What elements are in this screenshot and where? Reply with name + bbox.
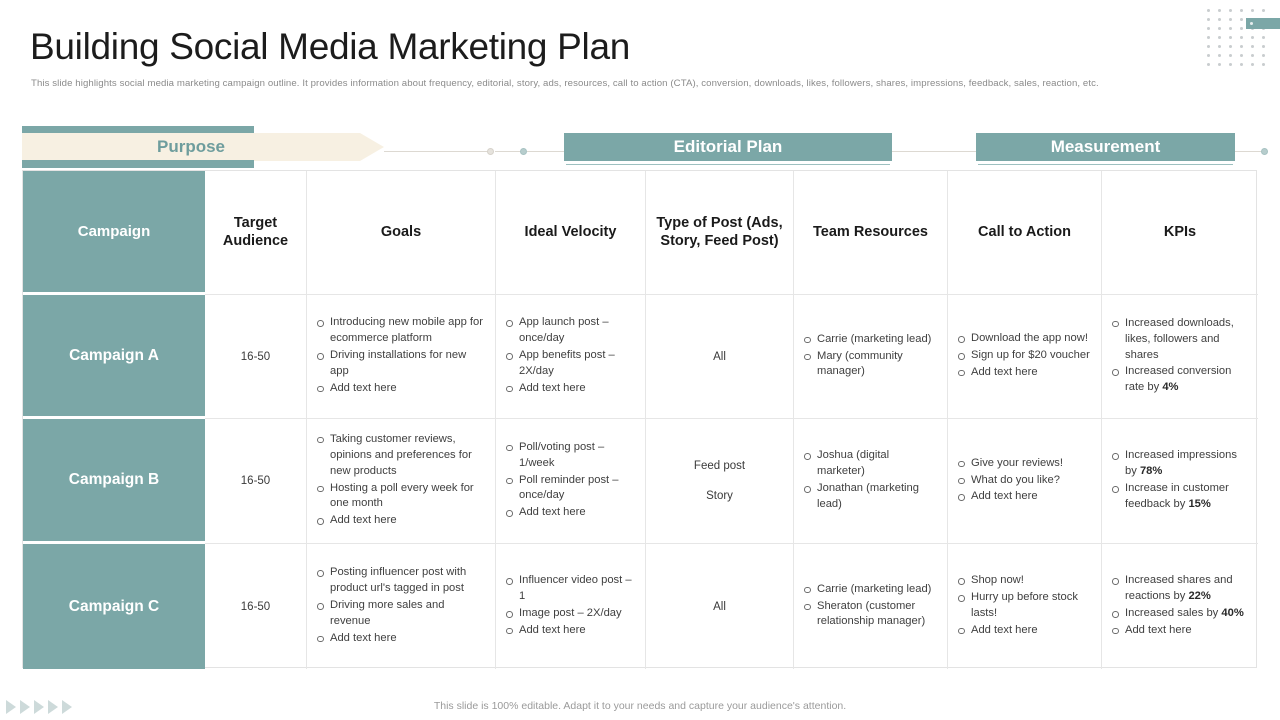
grid-dot-icon: [1240, 27, 1243, 30]
team-resources-list: Carrie (marketing lead)Sheraton (custome…: [802, 582, 939, 632]
cell-team-resources: Carrie (marketing lead)Sheraton (custome…: [794, 544, 948, 669]
column-header-type-of-post: Type of Post (Ads, Story, Feed Post): [646, 171, 794, 295]
kpis-list: Increased downloads, likes, followers an…: [1110, 316, 1250, 398]
purpose-cap-bottom: [22, 160, 254, 168]
phase-banner-measurement[interactable]: Measurement: [976, 133, 1235, 161]
grid-dot-icon: [1240, 36, 1243, 39]
connector-dot-2: [520, 148, 527, 155]
cell-kpis: Increased downloads, likes, followers an…: [1102, 295, 1258, 419]
list-item: Hosting a poll every week for one month: [315, 481, 487, 513]
list-item: Increased sales by 40%: [1110, 606, 1250, 622]
campaign-plan-table: Campaign Target Audience Goals Ideal Vel…: [22, 170, 1257, 668]
list-item: Add text here: [315, 513, 487, 529]
cell-target-audience: 16-50: [205, 419, 307, 544]
metric-value: 40%: [1221, 607, 1243, 619]
list-item: Shop now!: [956, 573, 1093, 589]
target-audience-line2: Audience: [223, 233, 288, 251]
connector-line-4: [892, 151, 976, 152]
grid-dot-icon: [1207, 27, 1210, 30]
list-item: Driving more sales and revenue: [315, 598, 487, 630]
grid-dot-icon: [1218, 18, 1221, 21]
column-header-ideal-velocity: Ideal Velocity: [496, 171, 646, 295]
purpose-cap-top: [22, 126, 254, 134]
type-of-post-value: Feed post: [694, 460, 745, 472]
grid-dot-icon: [1262, 63, 1265, 66]
column-header-target-audience: Target Audience: [205, 171, 307, 295]
list-item: Increased conversion rate by 4%: [1110, 364, 1250, 396]
column-header-kpis: KPIs: [1102, 171, 1258, 295]
list-item: Jonathan (marketing lead): [802, 481, 939, 513]
grid-dot-icon: [1262, 36, 1265, 39]
metric-value: 4%: [1162, 381, 1178, 393]
call-to-action-list: Shop now!Hurry up before stock lasts!Add…: [956, 573, 1093, 640]
column-header-team-resources: Team Resources: [794, 171, 948, 295]
grid-dot-icon: [1240, 18, 1243, 21]
table-row-campaign-label[interactable]: Campaign A: [23, 295, 205, 419]
grid-dot-icon: [1207, 18, 1210, 21]
list-item: Sheraton (customer relationship manager): [802, 599, 939, 631]
connector-dot-1: [487, 148, 494, 155]
grid-dot-icon: [1251, 63, 1254, 66]
type-of-post-line1: Type of Post (Ads,: [656, 215, 782, 233]
list-item: Add text here: [956, 365, 1093, 381]
cell-goals: Taking customer reviews, opinions and pr…: [307, 419, 496, 544]
type-of-post-line2: Story, Feed Post): [660, 233, 778, 251]
grid-dot-icon: [1207, 54, 1210, 57]
list-item: App benefits post – 2X/day: [504, 348, 637, 380]
list-item: App launch post – once/day: [504, 315, 637, 347]
connector-line-5: [1235, 151, 1263, 152]
cell-call-to-action: Shop now!Hurry up before stock lasts!Add…: [948, 544, 1102, 669]
grid-dot-icon: [1240, 54, 1243, 57]
cell-kpis: Increased impressions by 78%Increase in …: [1102, 419, 1258, 544]
metric-value: 22%: [1188, 590, 1210, 602]
column-header-campaign: Campaign: [23, 171, 205, 295]
grid-dot-icon: [1218, 36, 1221, 39]
page-title: Building Social Media Marketing Plan: [30, 26, 630, 68]
cell-ideal-velocity: App launch post – once/dayApp benefits p…: [496, 295, 646, 419]
grid-dot-icon: [1207, 9, 1210, 12]
phase-banner-purpose[interactable]: Purpose: [22, 126, 384, 168]
list-item: Add text here: [956, 623, 1093, 639]
grid-dot-icon: [1262, 9, 1265, 12]
call-to-action-list: Give your reviews!What do you like?Add t…: [956, 456, 1093, 507]
call-to-action-list: Download the app now!Sign up for $20 vou…: [956, 331, 1093, 382]
list-item: Sign up for $20 voucher: [956, 348, 1093, 364]
list-item: Driving installations for new app: [315, 348, 487, 380]
cell-ideal-velocity: Poll/voting post – 1/weekPoll reminder p…: [496, 419, 646, 544]
grid-dot-icon: [1240, 63, 1243, 66]
grid-dot-icon: [1229, 36, 1232, 39]
grid-dot-icon: [1229, 18, 1232, 21]
list-item: Poll reminder post – once/day: [504, 473, 637, 505]
grid-dot-icon: [1262, 45, 1265, 48]
teal-accent-bar-icon: [1246, 18, 1280, 29]
metric-value: 78%: [1140, 465, 1162, 477]
list-item: Posting influencer post with product url…: [315, 565, 487, 597]
column-header-goals: Goals: [307, 171, 496, 295]
cell-call-to-action: Give your reviews!What do you like?Add t…: [948, 419, 1102, 544]
list-item: Hurry up before stock lasts!: [956, 590, 1093, 622]
goals-list: Taking customer reviews, opinions and pr…: [315, 432, 487, 530]
grid-dot-icon: [1229, 63, 1232, 66]
cell-goals: Introducing new mobile app for ecommerce…: [307, 295, 496, 419]
type-of-post-value: Story: [706, 490, 733, 502]
list-item: Carrie (marketing lead): [802, 582, 939, 598]
goals-list: Posting influencer post with product url…: [315, 565, 487, 648]
cell-team-resources: Carrie (marketing lead)Mary (community m…: [794, 295, 948, 419]
kpis-list: Increased impressions by 78%Increase in …: [1110, 448, 1250, 514]
phase-banner-editorial-plan[interactable]: Editorial Plan: [564, 133, 892, 161]
slide-canvas: Building Social Media Marketing Plan Thi…: [0, 0, 1280, 720]
list-item: Download the app now!: [956, 331, 1093, 347]
team-resources-list: Joshua (digital marketer)Jonathan (marke…: [802, 448, 939, 514]
cell-team-resources: Joshua (digital marketer)Jonathan (marke…: [794, 419, 948, 544]
footer-note: This slide is 100% editable. Adapt it to…: [0, 700, 1280, 712]
cell-target-audience: 16-50: [205, 544, 307, 669]
grid-dot-icon: [1229, 9, 1232, 12]
ideal-velocity-list: Poll/voting post – 1/weekPoll reminder p…: [504, 440, 637, 523]
purpose-arrow-shape: Purpose: [22, 133, 384, 161]
grid-dot-icon: [1218, 54, 1221, 57]
target-audience-line1: Target: [234, 215, 277, 233]
connector-line-3: [527, 151, 564, 152]
list-item: Add text here: [504, 381, 637, 397]
cell-goals: Posting influencer post with product url…: [307, 544, 496, 669]
grid-dot-icon: [1207, 63, 1210, 66]
grid-dot-icon: [1218, 9, 1221, 12]
grid-dot-icon: [1229, 54, 1232, 57]
grid-dot-icon: [1262, 54, 1265, 57]
page-subtitle: This slide highlights social media marke…: [31, 78, 1099, 89]
grid-dot-icon: [1218, 45, 1221, 48]
grid-dot-icon: [1218, 63, 1221, 66]
goals-list: Introducing new mobile app for ecommerce…: [315, 315, 487, 398]
list-item: Poll/voting post – 1/week: [504, 440, 637, 472]
list-item: Add text here: [315, 381, 487, 397]
list-item: Add text here: [504, 505, 637, 521]
list-item: Add text here: [1110, 623, 1250, 639]
list-item: Influencer video post – 1: [504, 573, 637, 605]
list-item: Mary (community manager): [802, 349, 939, 381]
column-header-call-to-action: Call to Action: [948, 171, 1102, 295]
list-item: Carrie (marketing lead): [802, 332, 939, 348]
phase-label-purpose: Purpose: [22, 133, 360, 161]
list-item: Add text here: [504, 623, 637, 639]
grid-dot-icon: [1218, 27, 1221, 30]
cell-type-of-post: Feed postStory: [646, 419, 794, 544]
type-of-post-value: All: [713, 601, 726, 613]
type-of-post-value: All: [713, 351, 726, 363]
kpis-list: Increased shares and reactions by 22%Inc…: [1110, 573, 1250, 640]
grid-dot-icon: [1207, 36, 1210, 39]
ideal-velocity-list: Influencer video post – 1Image post – 2X…: [504, 573, 637, 640]
grid-dot-icon: [1240, 45, 1243, 48]
list-item: Increased shares and reactions by 22%: [1110, 573, 1250, 605]
list-item: Increased impressions by 78%: [1110, 448, 1250, 480]
list-item: Add text here: [956, 489, 1093, 505]
list-item: Increase in customer feedback by 15%: [1110, 481, 1250, 513]
list-item: Increased downloads, likes, followers an…: [1110, 316, 1250, 364]
grid-dot-icon: [1229, 45, 1232, 48]
list-item: Give your reviews!: [956, 456, 1093, 472]
connector-dot-3: [1261, 148, 1268, 155]
grid-dot-icon: [1229, 27, 1232, 30]
metric-value: 15%: [1188, 498, 1210, 510]
list-item: Add text here: [315, 631, 487, 647]
cell-type-of-post: All: [646, 295, 794, 419]
grid-dot-icon: [1251, 45, 1254, 48]
list-item: Joshua (digital marketer): [802, 448, 939, 480]
grid-dot-icon: [1251, 36, 1254, 39]
list-item: Image post – 2X/day: [504, 606, 637, 622]
list-item: Introducing new mobile app for ecommerce…: [315, 315, 487, 347]
ideal-velocity-list: App launch post – once/dayApp benefits p…: [504, 315, 637, 398]
cell-target-audience: 16-50: [205, 295, 307, 419]
connector-line-2: [495, 151, 522, 152]
team-resources-list: Carrie (marketing lead)Mary (community m…: [802, 332, 939, 382]
grid-dot-icon: [1207, 45, 1210, 48]
grid-dot-icon: [1240, 9, 1243, 12]
grid-dot-icon: [1251, 9, 1254, 12]
grid-dot-icon: [1251, 54, 1254, 57]
cell-kpis: Increased shares and reactions by 22%Inc…: [1102, 544, 1258, 669]
cell-type-of-post: All: [646, 544, 794, 669]
cell-ideal-velocity: Influencer video post – 1Image post – 2X…: [496, 544, 646, 669]
dot-grid-decoration: [1203, 6, 1269, 68]
connector-line-1: [384, 151, 488, 152]
cell-call-to-action: Download the app now!Sign up for $20 vou…: [948, 295, 1102, 419]
list-item: What do you like?: [956, 473, 1093, 489]
table-row-campaign-label[interactable]: Campaign B: [23, 419, 205, 544]
table-row-campaign-label[interactable]: Campaign C: [23, 544, 205, 669]
list-item: Taking customer reviews, opinions and pr…: [315, 432, 487, 480]
